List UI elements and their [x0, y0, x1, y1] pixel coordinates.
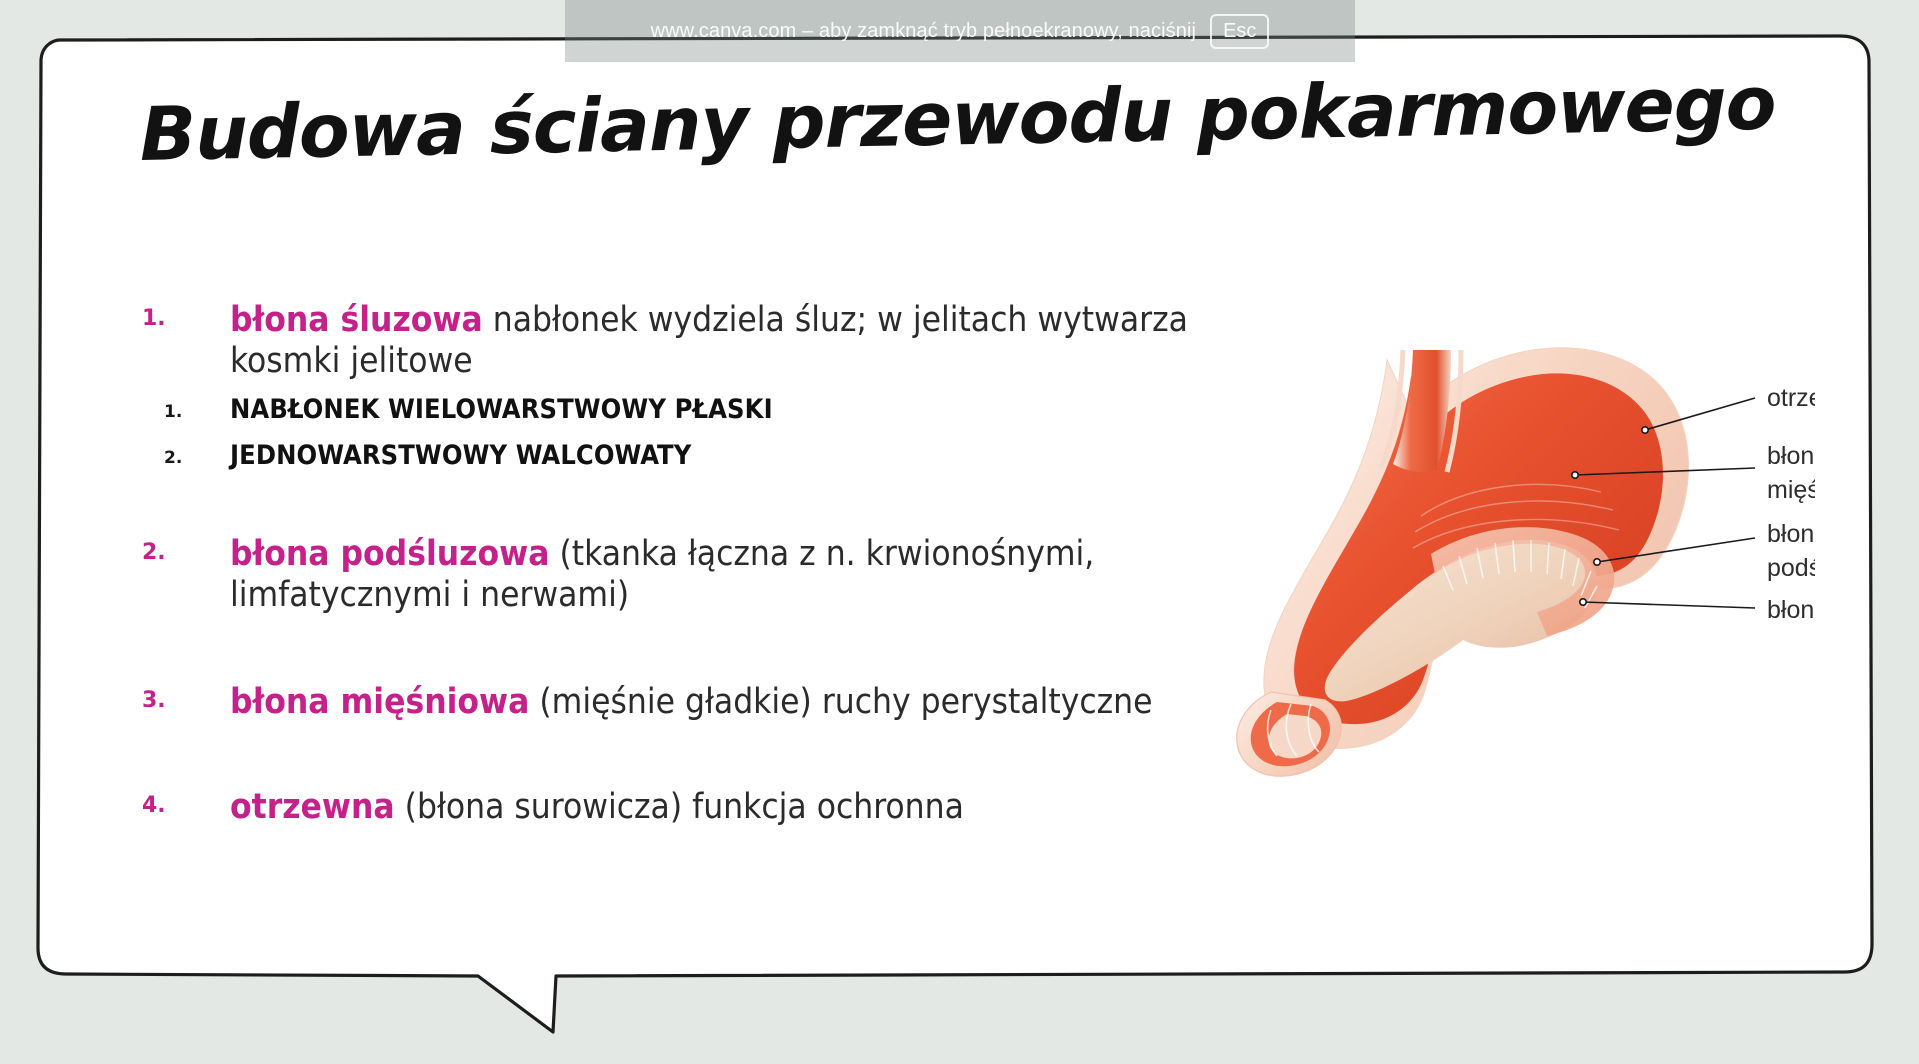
spacer — [130, 735, 1190, 787]
anatomy-label-blona-sluzowa: błona śluzowa — [1767, 596, 1815, 624]
anatomy-label-blona-miesniowa-line1: błona — [1767, 442, 1815, 470]
list-item-rest: (mięśnie gładkie) ruchy perystaltyczne — [529, 682, 1152, 722]
sub-list: 1. NABŁONEK WIELOWARSTWOWY PŁASKI 2. JED… — [164, 394, 1190, 476]
sub-list-item: 1. NABŁONEK WIELOWARSTWOWY PŁASKI — [164, 394, 1190, 430]
stomach-anatomy-figure: otrzewna błona mięśniowa błona podśluzow… — [1215, 340, 1815, 790]
list-item-number: 3. — [142, 688, 186, 713]
list-item: 3. błona mięśniowa (mięśnie gładkie) ruc… — [130, 682, 1190, 723]
list-item-text: błona śluzowa nabłonek wydziela śluz; w … — [230, 300, 1190, 382]
spacer — [130, 628, 1190, 682]
sub-item-text: JEDNOWARSTWOWY WALCOWATY — [230, 440, 1190, 472]
stomach-diagram-svg: otrzewna błona mięśniowa błona podśluzow… — [1215, 340, 1815, 790]
list-item-number: 2. — [142, 540, 186, 565]
anatomy-label-otrzewna: otrzewna — [1767, 384, 1815, 412]
list-item-text: błona mięśniowa (mięśnie gładkie) ruchy … — [230, 682, 1190, 723]
list-item: 2. błona podśluzowa (tkanka łączna z n. … — [130, 534, 1190, 616]
list-item-text: otrzewna (błona surowicza) funkcja ochro… — [230, 787, 1190, 828]
list-item-keyword: błona mięśniowa — [230, 682, 529, 722]
spacer — [130, 488, 1190, 534]
duodenum — [1237, 692, 1342, 776]
list-item-keyword: błona śluzowa — [230, 300, 483, 340]
list-item: 1. błona śluzowa nabłonek wydziela śluz;… — [130, 300, 1190, 476]
sub-item-number: 1. — [164, 402, 200, 422]
numbered-list: 1. błona śluzowa nabłonek wydziela śluz;… — [130, 300, 1190, 840]
list-item-keyword: otrzewna — [230, 787, 395, 827]
slide-content: Budowa ściany przewodu pokarmowego 1. bł… — [0, 0, 1919, 1064]
list-item-number: 1. — [142, 306, 186, 331]
anatomy-label-blona-miesniowa-line2: mięśniowa — [1767, 476, 1815, 504]
anatomy-label-blona-podsluzowa-line2: podśluzowa — [1767, 554, 1815, 582]
list-item-rest: (błona surowicza) funkcja ochronna — [395, 787, 964, 827]
list-item-keyword: błona podśluzowa — [230, 534, 549, 574]
sub-item-text: NABŁONEK WIELOWARSTWOWY PŁASKI — [230, 394, 1190, 426]
list-item-number: 4. — [142, 793, 186, 818]
anatomy-label-blona-podsluzowa-line1: błona — [1767, 520, 1815, 548]
sub-item-number: 2. — [164, 448, 200, 468]
sub-list-item: 2. JEDNOWARSTWOWY WALCOWATY — [164, 440, 1190, 476]
list-item: 4. otrzewna (błona surowicza) funkcja oc… — [130, 787, 1190, 828]
page-title: Budowa ściany przewodu pokarmowego — [139, 66, 1801, 198]
list-item-text: błona podśluzowa (tkanka łączna z n. krw… — [230, 534, 1190, 616]
